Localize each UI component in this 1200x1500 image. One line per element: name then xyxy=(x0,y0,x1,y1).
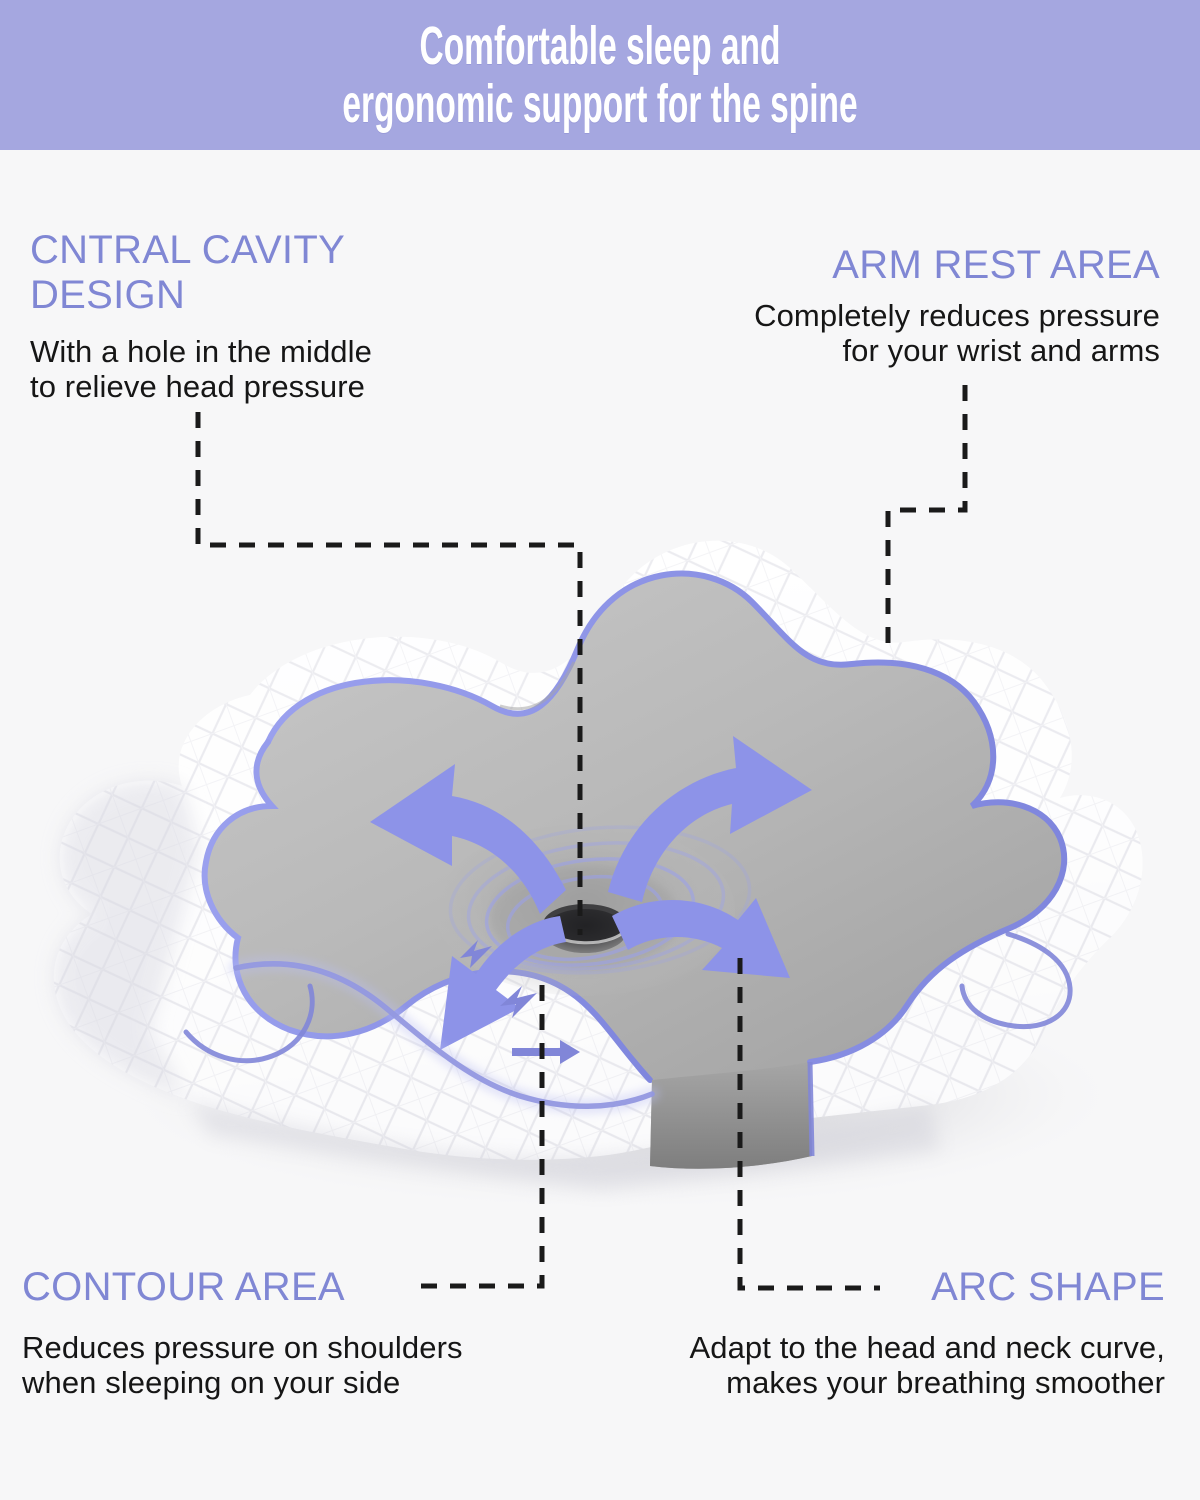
callout-contour-area: CONTOUR AREA Reduces pressure on shoulde… xyxy=(22,1265,542,1400)
callout-arm-rest-area: ARM REST AREA Completely reduces pressur… xyxy=(640,243,1160,368)
callout-central-cavity-design: CNTRAL CAVITY DESIGN With a hole in the … xyxy=(30,228,470,404)
callout-title-arm-rest: ARM REST AREA xyxy=(640,243,1160,288)
callout-desc-arc: Adapt to the head and neck curve, makes … xyxy=(625,1330,1165,1400)
foam-front-face xyxy=(650,1062,812,1169)
callout-desc-arm-rest: Completely reduces pressure for your wri… xyxy=(640,298,1160,368)
foam-front-face-piping xyxy=(810,1062,812,1156)
callout-title-contour: CONTOUR AREA xyxy=(22,1265,542,1310)
header-banner: Comfortable sleep and ergonomic support … xyxy=(0,0,1200,150)
callout-desc-contour: Reduces pressure on shoulders when sleep… xyxy=(22,1330,542,1400)
callout-desc-central-cavity: With a hole in the middle to relieve hea… xyxy=(30,334,470,404)
callout-title-arc: ARC SHAPE xyxy=(625,1265,1165,1310)
callout-arc-shape: ARC SHAPE Adapt to the head and neck cur… xyxy=(625,1265,1165,1400)
infographic-page: Comfortable sleep and ergonomic support … xyxy=(0,0,1200,1500)
callout-title-central-cavity: CNTRAL CAVITY DESIGN xyxy=(30,228,470,318)
header-title: Comfortable sleep and ergonomic support … xyxy=(228,17,972,133)
